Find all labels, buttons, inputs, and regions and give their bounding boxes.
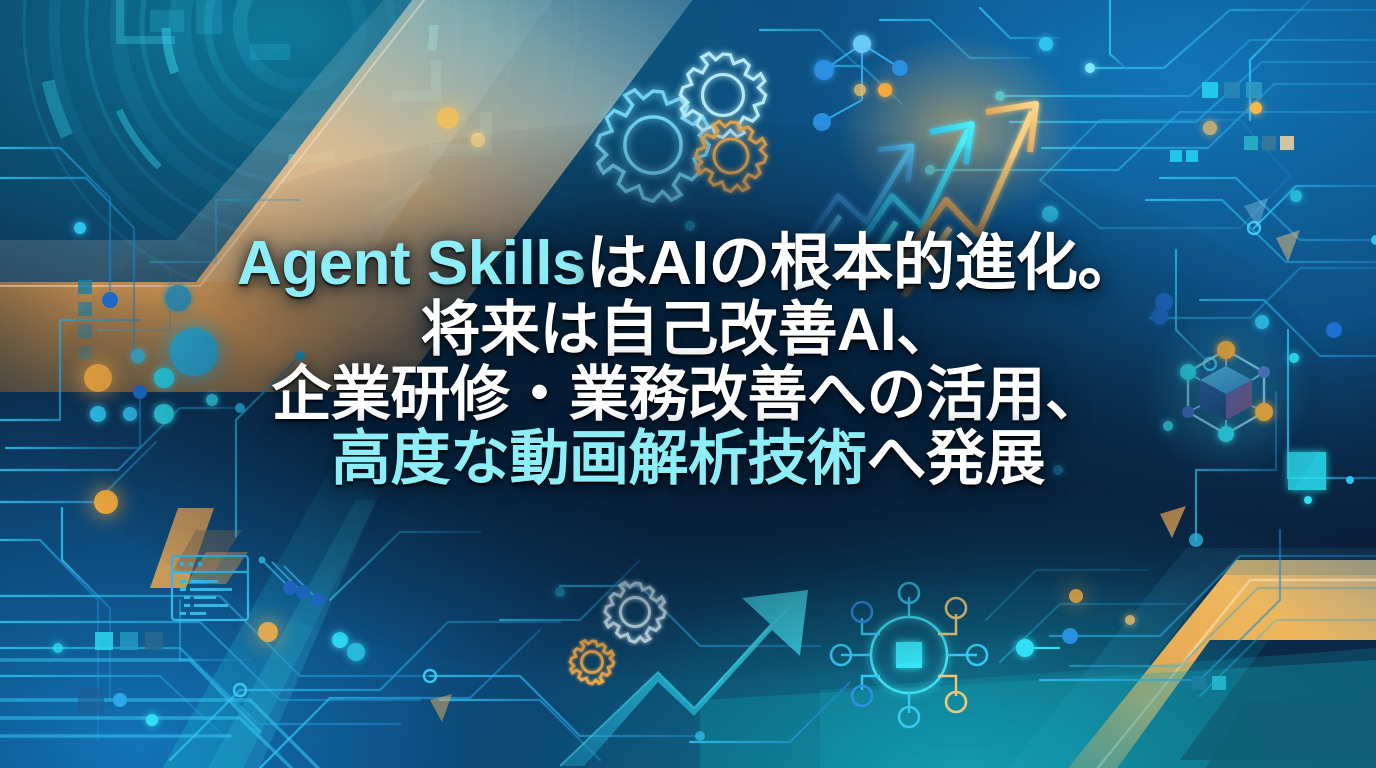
hero-banner: Agent SkillsはAIの根本的進化。 将来は自己改善AI、 企業研修・業… [0, 0, 1376, 768]
headline-scrim [0, 0, 1376, 768]
